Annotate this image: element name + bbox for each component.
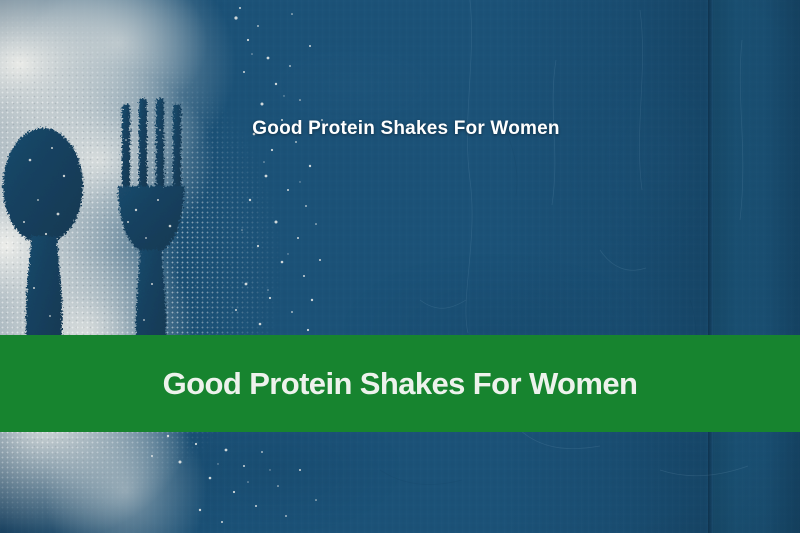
background-photo: [0, 0, 800, 533]
banner-title-text: Good Protein Shakes For Women: [163, 366, 638, 402]
spoon-silhouette: [3, 128, 83, 360]
green-title-banner: Good Protein Shakes For Women: [0, 335, 800, 432]
protein-powder: [0, 0, 330, 533]
image-card: Good Protein Shakes For Women Good Prote…: [0, 0, 800, 533]
top-caption-title: Good Protein Shakes For Women: [0, 118, 800, 140]
utensil-silhouettes: [0, 0, 330, 533]
